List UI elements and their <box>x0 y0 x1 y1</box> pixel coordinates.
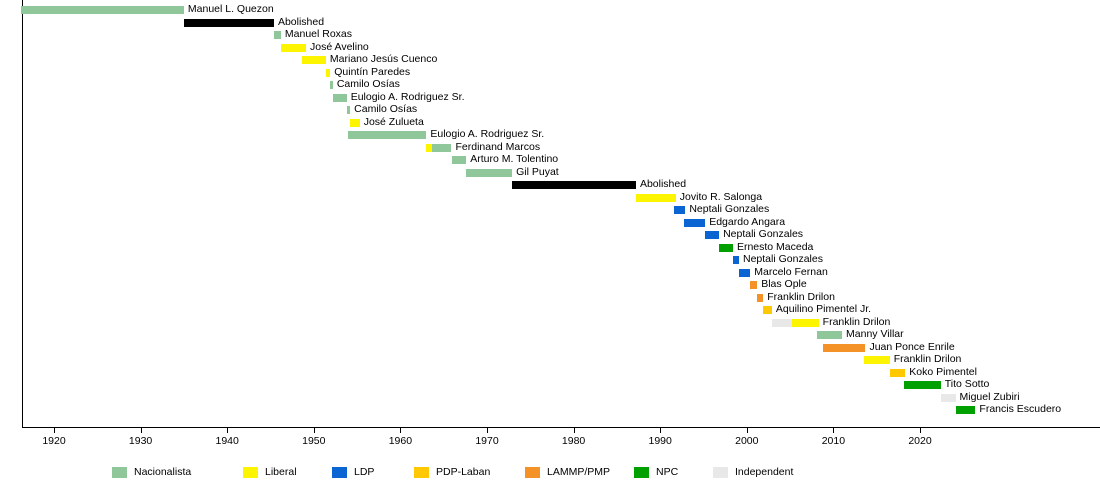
timeline-bar-segment <box>750 281 757 289</box>
timeline-bar-segment <box>512 181 636 189</box>
legend-swatch-icon <box>112 467 127 478</box>
timeline-row-label: Arturo M. Tolentino <box>470 153 558 165</box>
timeline-bar-segment <box>719 244 733 252</box>
timeline-row: Koko Pimentel <box>0 367 1100 380</box>
timeline-bar-segment <box>823 344 865 352</box>
timeline-bar-segment <box>890 369 906 377</box>
x-axis-tick-label: 1960 <box>389 435 412 447</box>
timeline-row-label: Koko Pimentel <box>909 366 977 378</box>
x-axis-tick-label: 1950 <box>302 435 325 447</box>
x-axis-tick-label: 2020 <box>908 435 931 447</box>
timeline-bar-segment <box>772 319 792 327</box>
timeline-bar-segment <box>956 406 976 414</box>
legend-item[interactable]: NPC <box>634 466 678 478</box>
timeline-row-label: Abolished <box>278 16 324 28</box>
x-axis-tick-label: 1940 <box>216 435 239 447</box>
timeline-row-label: Neptali Gonzales <box>723 228 803 240</box>
timeline-bar-segment <box>21 6 184 14</box>
timeline-bar-segment <box>674 206 685 214</box>
timeline-bar-segment <box>466 169 512 177</box>
legend-item[interactable]: Nacionalista <box>112 466 191 478</box>
timeline-row: Quintín Paredes <box>0 67 1100 80</box>
timeline-row: Abolished <box>0 17 1100 30</box>
timeline-row: Neptali Gonzales <box>0 229 1100 242</box>
timeline-row-label: Gil Puyat <box>516 166 559 178</box>
timeline-row-label: Ferdinand Marcos <box>455 141 540 153</box>
legend-swatch-icon <box>414 467 429 478</box>
legend-item[interactable]: PDP-Laban <box>414 466 490 478</box>
timeline-row-label: Franklin Drilon <box>894 353 962 365</box>
timeline-row: Eulogio A. Rodriguez Sr. <box>0 92 1100 105</box>
timeline-row-label: Edgardo Angara <box>709 216 785 228</box>
timeline-row: José Zulueta <box>0 117 1100 130</box>
legend-label: NPC <box>656 466 678 478</box>
x-axis-tick <box>227 427 228 433</box>
x-axis-tick <box>660 427 661 433</box>
x-axis-tick-label: 2010 <box>822 435 845 447</box>
legend-item[interactable]: Liberal <box>243 466 297 478</box>
timeline-row-label: Neptali Gonzales <box>689 203 769 215</box>
timeline-bar-segment <box>792 319 819 327</box>
timeline-bar-segment <box>348 131 427 139</box>
legend-swatch-icon <box>525 467 540 478</box>
timeline-row: Manuel Roxas <box>0 29 1100 42</box>
timeline-row-label: Juan Ponce Enrile <box>869 341 954 353</box>
timeline-row-label: Quintín Paredes <box>334 66 410 78</box>
x-axis-tick <box>487 427 488 433</box>
timeline-row-label: Blas Ople <box>761 278 807 290</box>
timeline-row: Franklin Drilon <box>0 317 1100 330</box>
timeline-row: Blas Ople <box>0 279 1100 292</box>
timeline-row: Marcelo Fernan <box>0 267 1100 280</box>
legend-label: PDP-Laban <box>436 466 490 478</box>
timeline-bar-segment <box>757 294 763 302</box>
timeline-row-label: Manny Villar <box>846 328 904 340</box>
timeline-bar-segment <box>333 94 347 102</box>
timeline-row-label: Manuel Roxas <box>285 28 352 40</box>
timeline-row: Ernesto Maceda <box>0 242 1100 255</box>
timeline-row: Tito Sotto <box>0 379 1100 392</box>
legend-label: Liberal <box>265 466 297 478</box>
senate-presidents-timeline-chart: Manuel L. QuezonAbolishedManuel RoxasJos… <box>0 0 1100 486</box>
timeline-bar-segment <box>817 331 842 339</box>
timeline-bar-segment <box>705 231 719 239</box>
timeline-bar-segment <box>739 269 750 277</box>
x-axis-tick <box>833 427 834 433</box>
timeline-row-label: Mariano Jesús Cuenco <box>330 53 437 65</box>
x-axis-tick-label: 1990 <box>649 435 672 447</box>
timeline-row-label: Miguel Zubiri <box>960 391 1020 403</box>
timeline-bar-segment <box>350 119 360 127</box>
timeline-bar-segment <box>302 56 326 64</box>
legend-label: Nacionalista <box>134 466 191 478</box>
legend-item[interactable]: LDP <box>332 466 374 478</box>
legend-item[interactable]: Independent <box>713 466 793 478</box>
timeline-bar-segment <box>274 31 281 39</box>
timeline-row-label: Camilo Osías <box>354 103 417 115</box>
x-axis-tick <box>920 427 921 433</box>
timeline-bar-segment <box>330 81 333 89</box>
legend-swatch-icon <box>332 467 347 478</box>
x-axis-tick <box>141 427 142 433</box>
legend-swatch-icon <box>243 467 258 478</box>
timeline-bar-segment <box>941 394 956 402</box>
legend-swatch-icon <box>634 467 649 478</box>
timeline-row: Edgardo Angara <box>0 217 1100 230</box>
timeline-row: Jovito R. Salonga <box>0 192 1100 205</box>
legend-swatch-icon <box>713 467 728 478</box>
timeline-row: Eulogio A. Rodriguez Sr. <box>0 129 1100 142</box>
timeline-row: Abolished <box>0 179 1100 192</box>
legend-label: Independent <box>735 466 793 478</box>
timeline-bar-segment <box>326 69 330 77</box>
timeline-row-label: José Avelino <box>310 41 369 53</box>
timeline-bar-segment <box>452 156 466 164</box>
timeline-row-label: Eulogio A. Rodriguez Sr. <box>430 128 544 140</box>
timeline-row: Miguel Zubiri <box>0 392 1100 405</box>
timeline-row-label: Tito Sotto <box>945 378 990 390</box>
timeline-row: José Avelino <box>0 42 1100 55</box>
timeline-row-label: Manuel L. Quezon <box>188 3 274 15</box>
legend-label: LAMMP/PMP <box>547 466 610 478</box>
timeline-row-label: Abolished <box>640 178 686 190</box>
timeline-row-label: Neptali Gonzales <box>743 253 823 265</box>
timeline-row: Aquilino Pimentel Jr. <box>0 304 1100 317</box>
x-axis-tick <box>574 427 575 433</box>
x-axis-tick-label: 1930 <box>129 435 152 447</box>
timeline-row: Neptali Gonzales <box>0 254 1100 267</box>
timeline-row-label: Franklin Drilon <box>823 316 891 328</box>
timeline-row: Camilo Osías <box>0 79 1100 92</box>
timeline-bar-segment <box>733 256 739 264</box>
timeline-row-label: Jovito R. Salonga <box>680 191 762 203</box>
timeline-row-label: Franklin Drilon <box>767 291 835 303</box>
x-axis-tick-label: 1970 <box>475 435 498 447</box>
timeline-row: Camilo Osías <box>0 104 1100 117</box>
x-axis-tick <box>747 427 748 433</box>
legend-label: LDP <box>354 466 374 478</box>
x-axis-tick-label: 2000 <box>735 435 758 447</box>
timeline-row: Francis Escudero <box>0 404 1100 417</box>
plot-area: Manuel L. QuezonAbolishedManuel RoxasJos… <box>0 0 1100 430</box>
timeline-bar-segment <box>347 106 350 114</box>
timeline-row-label: Marcelo Fernan <box>754 266 828 278</box>
x-axis-tick <box>314 427 315 433</box>
timeline-row-label: José Zulueta <box>364 116 424 128</box>
timeline-row-label: Camilo Osías <box>337 78 400 90</box>
timeline-row: Neptali Gonzales <box>0 204 1100 217</box>
timeline-bar-segment <box>763 306 772 314</box>
timeline-bar-segment <box>684 219 705 227</box>
timeline-bar-segment <box>636 194 676 202</box>
timeline-row-label: Aquilino Pimentel Jr. <box>776 303 871 315</box>
timeline-bar-segment <box>864 356 890 364</box>
x-axis-tick <box>400 427 401 433</box>
legend-item[interactable]: LAMMP/PMP <box>525 466 610 478</box>
timeline-row: Manuel L. Quezon <box>0 4 1100 17</box>
x-axis-tick-label: 1980 <box>562 435 585 447</box>
timeline-row: Franklin Drilon <box>0 292 1100 305</box>
chart-legend: NacionalistaLiberalLDPPDP-LabanLAMMP/PMP… <box>0 461 1100 483</box>
timeline-bar-segment <box>184 19 274 27</box>
timeline-row-label: Eulogio A. Rodriguez Sr. <box>351 91 465 103</box>
x-axis: 1920193019401950196019701980199020002010… <box>0 427 1100 457</box>
timeline-bar-segment <box>904 381 940 389</box>
timeline-bar-segment <box>432 144 451 152</box>
timeline-row: Gil Puyat <box>0 167 1100 180</box>
x-axis-tick-label: 1920 <box>42 435 65 447</box>
timeline-row: Mariano Jesús Cuenco <box>0 54 1100 67</box>
timeline-row-label: Ernesto Maceda <box>737 241 813 253</box>
timeline-row-label: Francis Escudero <box>979 403 1061 415</box>
timeline-bar-segment <box>281 44 306 52</box>
x-axis-tick <box>54 427 55 433</box>
